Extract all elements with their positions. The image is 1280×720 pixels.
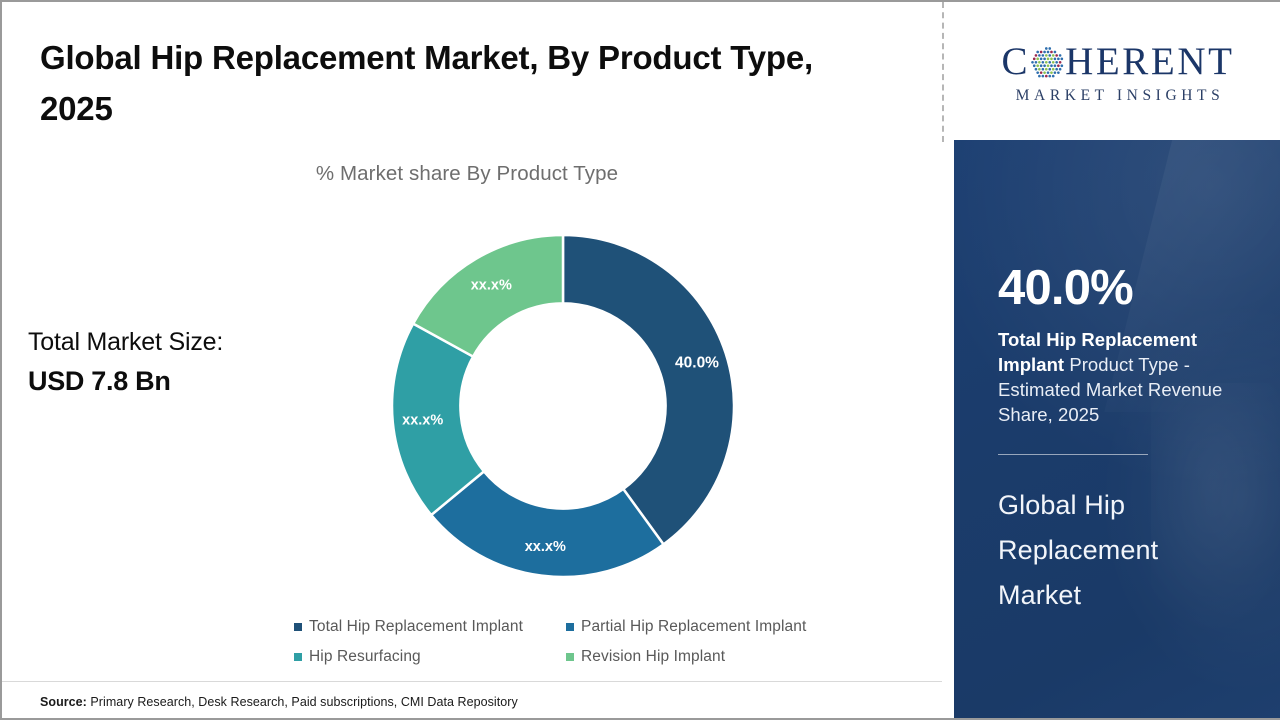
legend-item[interactable]: Partial Hip Replacement Implant: [566, 618, 838, 636]
donut-slice-label: 40.0%: [675, 355, 719, 372]
brand-name-rest: HERENT: [1065, 42, 1234, 81]
brand-name-first-letter: C: [1001, 42, 1030, 81]
globe-dots-icon: [1031, 47, 1064, 80]
infographic-canvas: Global Hip Replacement Market, By Produc…: [0, 0, 1280, 720]
total-market-size-block: Total Market Size: USD 7.8 Bn: [28, 324, 328, 400]
donut-chart-svg: 40.0%xx.x%xx.x%xx.x%: [377, 220, 749, 592]
legend-item-label: Partial Hip Replacement Implant: [581, 618, 806, 636]
source-label: Source:: [40, 695, 87, 709]
source-divider: [2, 681, 942, 682]
page-title: Global Hip Replacement Market, By Produc…: [40, 32, 870, 135]
donut-slice-label: xx.x%: [471, 278, 512, 294]
legend-item[interactable]: Total Hip Replacement Implant: [294, 618, 566, 636]
stat-percent-value: 40.0%: [998, 264, 1238, 313]
donut-slice-group: [392, 235, 734, 577]
donut-slice-label: xx.x%: [402, 412, 443, 428]
donut-slice: [563, 235, 734, 544]
donut-chart: 40.0%xx.x%xx.x%xx.x%: [377, 220, 749, 592]
market-name-heading: Global Hip Replacement Market: [998, 483, 1238, 619]
brand-tagline: MARKET INSIGHTS: [968, 87, 1268, 105]
source-text: Primary Research, Desk Research, Paid su…: [90, 695, 517, 709]
legend-item[interactable]: Revision Hip Implant: [566, 648, 838, 666]
globe-dots-svg: [1031, 47, 1064, 80]
legend-swatch-icon: [294, 653, 302, 661]
legend-item[interactable]: Hip Resurfacing: [294, 648, 566, 666]
legend-swatch-icon: [566, 623, 574, 631]
donut-slice-label: xx.x%: [525, 539, 566, 555]
legend-item-label: Total Hip Replacement Implant: [309, 618, 523, 636]
chart-legend: Total Hip Replacement ImplantPartial Hip…: [294, 618, 854, 666]
brand-wordmark: C HERENT: [968, 42, 1268, 81]
stat-highlight-panel: 40.0% Total Hip Replacement Implant Prod…: [954, 140, 1280, 718]
brand-logo: C HERENT MARKET INSIGHTS: [954, 2, 1280, 140]
legend-swatch-icon: [566, 653, 574, 661]
source-note: Source: Primary Research, Desk Research,…: [40, 695, 518, 709]
stat-description: Total Hip Replacement Implant Product Ty…: [998, 327, 1238, 428]
chart-subtitle: % Market share By Product Type: [2, 162, 932, 186]
panel-divider-dashed: [942, 2, 944, 142]
total-market-size-value: USD 7.8 Bn: [28, 362, 328, 400]
legend-item-label: Revision Hip Implant: [581, 648, 725, 666]
legend-item-label: Hip Resurfacing: [309, 648, 421, 666]
legend-swatch-icon: [294, 623, 302, 631]
total-market-size-label: Total Market Size:: [28, 324, 328, 362]
sidebar-panel: C HERENT MARKET INSIGHTS 40.0% Total Hip…: [954, 2, 1280, 718]
stat-divider: [998, 454, 1148, 455]
main-content-panel: Global Hip Replacement Market, By Produc…: [2, 2, 942, 718]
